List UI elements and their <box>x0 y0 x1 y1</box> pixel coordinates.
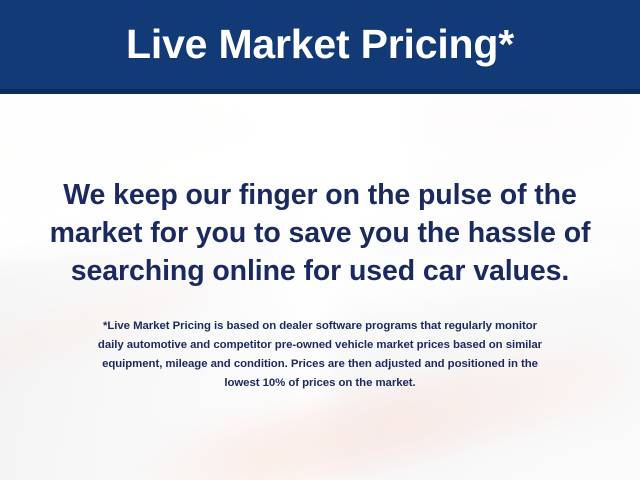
headline-line-2: market for you to save you the hassle of <box>30 214 610 252</box>
page-title: Live Market Pricing* <box>126 24 514 65</box>
disclaimer-line-2: daily automotive and competitor pre-owne… <box>30 336 610 355</box>
header-divider-rule <box>0 89 640 94</box>
disclaimer-line-1: *Live Market Pricing is based on dealer … <box>30 317 610 336</box>
live-market-pricing-banner: Live Market Pricing* We keep our finger … <box>0 0 640 480</box>
content-area: We keep our finger on the pulse of the m… <box>0 94 640 480</box>
headline-line-1: We keep our finger on the pulse of the <box>30 176 610 214</box>
headline-text: We keep our finger on the pulse of the m… <box>30 176 610 290</box>
headline-line-3: searching online for used car values. <box>30 252 610 290</box>
header-banner: Live Market Pricing* <box>0 0 640 89</box>
disclaimer-line-3: equipment, mileage and condition. Prices… <box>30 355 610 374</box>
disclaimer-line-4: lowest 10% of prices on the market. <box>30 374 610 393</box>
disclaimer-text: *Live Market Pricing is based on dealer … <box>30 317 610 393</box>
